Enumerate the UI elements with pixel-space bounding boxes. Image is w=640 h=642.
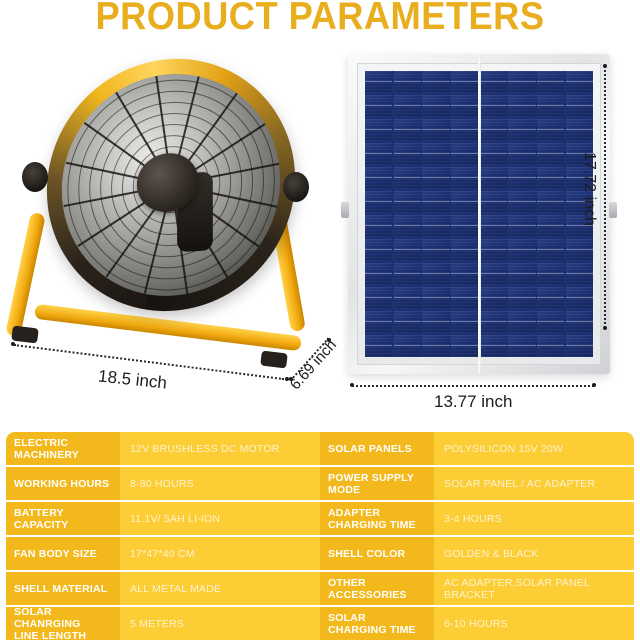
solar-cell (451, 71, 478, 93)
solar-cell (566, 119, 593, 141)
spec-row: SHELL MATERIALALL METAL MADE (6, 572, 320, 605)
solar-cell (566, 263, 593, 285)
solar-cell (365, 95, 392, 117)
spec-row: SOLAR PANELSPOLYSILICON 15V 20W (320, 432, 634, 465)
solar-cell (365, 71, 392, 93)
spec-row: ELECTRIC MACHINERY12V BRUSHLESS DC MOTOR (6, 432, 320, 465)
dimension-endpoint (11, 342, 15, 346)
spec-value: POLYSILICON 15V 20W (434, 432, 634, 465)
spec-key: ELECTRIC MACHINERY (6, 432, 120, 465)
solar-cell (394, 95, 421, 117)
solar-cell (451, 263, 478, 285)
solar-cell (422, 95, 449, 117)
fan-foot-left (11, 325, 39, 343)
floor-fan-image (6, 52, 326, 397)
panel-width-label: 13.77 inch (434, 392, 512, 412)
spec-value: 6-10 HOURS (434, 607, 634, 640)
solar-panel-frame (348, 54, 610, 374)
spec-key: SOLAR CHANRGINGLINE LENGTH (6, 607, 120, 640)
solar-cell (394, 119, 421, 141)
dimension-endpoint (592, 383, 596, 387)
solar-cell (394, 191, 421, 213)
spec-key-line: SOLAR CHANRGING (14, 606, 120, 630)
solar-cell (451, 95, 478, 117)
solar-cell (508, 239, 535, 261)
solar-cell (365, 311, 392, 333)
spec-value: GOLDEN & BLACK (434, 537, 634, 570)
spec-row: SHELL COLORGOLDEN & BLACK (320, 537, 634, 570)
fan-outer-ring (31, 37, 312, 332)
solar-cell (451, 239, 478, 261)
solar-cell (451, 143, 478, 165)
spec-column-right: SOLAR PANELSPOLYSILICON 15V 20WPOWER SUP… (320, 432, 634, 642)
solar-cell (508, 95, 535, 117)
spec-value: 8-80 HOURS (120, 467, 320, 500)
spec-key: ADAPTERCHARGING TIME (320, 502, 434, 535)
solar-cell (480, 143, 507, 165)
page-title: PRODUCT PARAMETERS (22, 0, 617, 40)
solar-cell (537, 263, 564, 285)
spec-row: SOLAR CHANRGINGLINE LENGTH5 METERS (6, 607, 320, 640)
panel-mount-tab-left (341, 202, 349, 218)
spec-value: 11.1V/ 5AH LI-ION (120, 502, 320, 535)
spec-key: BATTERY CAPACITY (6, 502, 120, 535)
solar-cell (537, 167, 564, 189)
spec-value: 3-4 HOURS (434, 502, 634, 535)
spec-key: OTHER ACCESSORIES (320, 572, 434, 605)
solar-cell (451, 215, 478, 237)
fan-grille (48, 55, 295, 315)
solar-cell (480, 167, 507, 189)
specifications-table: ELECTRIC MACHINERY12V BRUSHLESS DC MOTOR… (6, 432, 634, 642)
solar-cell (422, 191, 449, 213)
solar-cell (451, 335, 478, 357)
solar-cell (508, 287, 535, 309)
spec-key-line: WORKING HOURS (14, 478, 120, 490)
solar-cell (537, 287, 564, 309)
solar-cell (480, 191, 507, 213)
spec-key: SOLARCHARGING TIME (320, 607, 434, 640)
spec-value: 5 METERS (120, 607, 320, 640)
panel-mount-tab-right (609, 202, 617, 218)
solar-cell (566, 335, 593, 357)
solar-cell (365, 287, 392, 309)
spec-key-line: ADAPTER (328, 507, 434, 519)
solar-cell (422, 143, 449, 165)
solar-cell (480, 95, 507, 117)
solar-cell (422, 311, 449, 333)
solar-cell (394, 311, 421, 333)
solar-cell (394, 263, 421, 285)
spec-row: OTHER ACCESSORIESAC ADAPTER,SOLAR PANEL … (320, 572, 634, 605)
solar-cell (394, 167, 421, 189)
solar-cell (422, 167, 449, 189)
spec-key-line: BATTERY CAPACITY (14, 507, 120, 531)
solar-panel-image (348, 54, 610, 374)
solar-cell (566, 287, 593, 309)
spec-key-line: SHELL COLOR (328, 548, 434, 560)
solar-cell (365, 191, 392, 213)
spec-key: POWER SUPPLYMODE (320, 467, 434, 500)
solar-cell (451, 191, 478, 213)
solar-cell (566, 239, 593, 261)
solar-cell (365, 119, 392, 141)
solar-cell (508, 215, 535, 237)
spec-key-line: MODE (328, 484, 434, 496)
solar-cell (508, 191, 535, 213)
spec-row: ADAPTERCHARGING TIME3-4 HOURS (320, 502, 634, 535)
spec-key-line: CHARGING TIME (328, 519, 434, 531)
solar-cell (394, 239, 421, 261)
dimension-endpoint (350, 383, 354, 387)
solar-cell (480, 71, 507, 93)
spec-value: 17*47*40 CM (120, 537, 320, 570)
solar-cell (365, 239, 392, 261)
spec-value: SOLAR PANEL / AC ADAPTER (434, 467, 634, 500)
solar-cell (422, 119, 449, 141)
solar-cell (566, 71, 593, 93)
solar-cell (480, 287, 507, 309)
solar-cell (508, 167, 535, 189)
spec-key-line: LINE LENGTH (14, 630, 120, 642)
spec-value: AC ADAPTER,SOLAR PANEL BRACKET (434, 572, 634, 605)
spec-value: 12V BRUSHLESS DC MOTOR (120, 432, 320, 465)
solar-cell (451, 287, 478, 309)
solar-cell (451, 167, 478, 189)
solar-cell (537, 311, 564, 333)
solar-cell (480, 239, 507, 261)
solar-cell (422, 71, 449, 93)
solar-cell (480, 311, 507, 333)
solar-cell (480, 263, 507, 285)
solar-cell (480, 119, 507, 141)
solar-cell (422, 239, 449, 261)
solar-cell (422, 287, 449, 309)
solar-cell (508, 143, 535, 165)
fan-foot-right (260, 350, 288, 368)
spec-key-line: POWER SUPPLY (328, 472, 434, 484)
panel-width-dimension-line (352, 385, 594, 387)
solar-cell (365, 215, 392, 237)
solar-cell (480, 335, 507, 357)
solar-cell (537, 143, 564, 165)
spec-row: POWER SUPPLYMODESOLAR PANEL / AC ADAPTER (320, 467, 634, 500)
spec-key-line: FAN BODY SIZE (14, 548, 120, 560)
solar-cell (394, 71, 421, 93)
solar-cell (537, 215, 564, 237)
spec-key: FAN BODY SIZE (6, 537, 120, 570)
solar-cell (422, 335, 449, 357)
solar-cell (451, 119, 478, 141)
spec-key-line: ELECTRIC MACHINERY (14, 437, 120, 461)
solar-cell (566, 95, 593, 117)
spec-row: FAN BODY SIZE17*47*40 CM (6, 537, 320, 570)
solar-cell (508, 335, 535, 357)
spec-key-line: CHARGING TIME (328, 624, 434, 636)
solar-cell (537, 239, 564, 261)
solar-cell (422, 263, 449, 285)
solar-cell (537, 95, 564, 117)
solar-cell (537, 71, 564, 93)
panel-height-label: 17.72 inch (580, 152, 598, 226)
spec-key-line: OTHER ACCESSORIES (328, 577, 434, 601)
spec-row: BATTERY CAPACITY11.1V/ 5AH LI-ION (6, 502, 320, 535)
title-banner: PRODUCT PARAMETERS (0, 0, 640, 46)
solar-cell (365, 143, 392, 165)
spec-row: SOLARCHARGING TIME6-10 HOURS (320, 607, 634, 640)
panel-height-dimension-line (604, 66, 608, 328)
solar-cell (508, 119, 535, 141)
spec-key: WORKING HOURS (6, 467, 120, 500)
dimension-endpoint (603, 326, 607, 330)
solar-cell (508, 71, 535, 93)
spec-value: ALL METAL MADE (120, 572, 320, 605)
spec-key: SOLAR PANELS (320, 432, 434, 465)
solar-cell (566, 311, 593, 333)
spec-key-line: SOLAR PANELS (328, 443, 434, 455)
spec-key-line: SHELL MATERIAL (14, 583, 120, 595)
fan-tilt-knob-right (283, 172, 309, 202)
solar-cell (537, 191, 564, 213)
solar-cell (394, 143, 421, 165)
dimension-endpoint (603, 64, 607, 68)
solar-cell (394, 287, 421, 309)
solar-cell (365, 167, 392, 189)
fan-tilt-knob-left (22, 162, 48, 192)
solar-cell (451, 311, 478, 333)
solar-busbar (478, 54, 481, 374)
solar-cell (365, 335, 392, 357)
solar-cell (508, 263, 535, 285)
solar-cell (480, 215, 507, 237)
solar-cell (394, 335, 421, 357)
spec-key-line: SOLAR (328, 612, 434, 624)
solar-cell (422, 215, 449, 237)
spec-key: SHELL COLOR (320, 537, 434, 570)
spec-column-left: ELECTRIC MACHINERY12V BRUSHLESS DC MOTOR… (6, 432, 320, 642)
solar-cell (365, 263, 392, 285)
solar-cell (537, 335, 564, 357)
solar-cell (508, 311, 535, 333)
solar-cell (537, 119, 564, 141)
spec-row: WORKING HOURS8-80 HOURS (6, 467, 320, 500)
solar-cell (394, 215, 421, 237)
spec-key: SHELL MATERIAL (6, 572, 120, 605)
